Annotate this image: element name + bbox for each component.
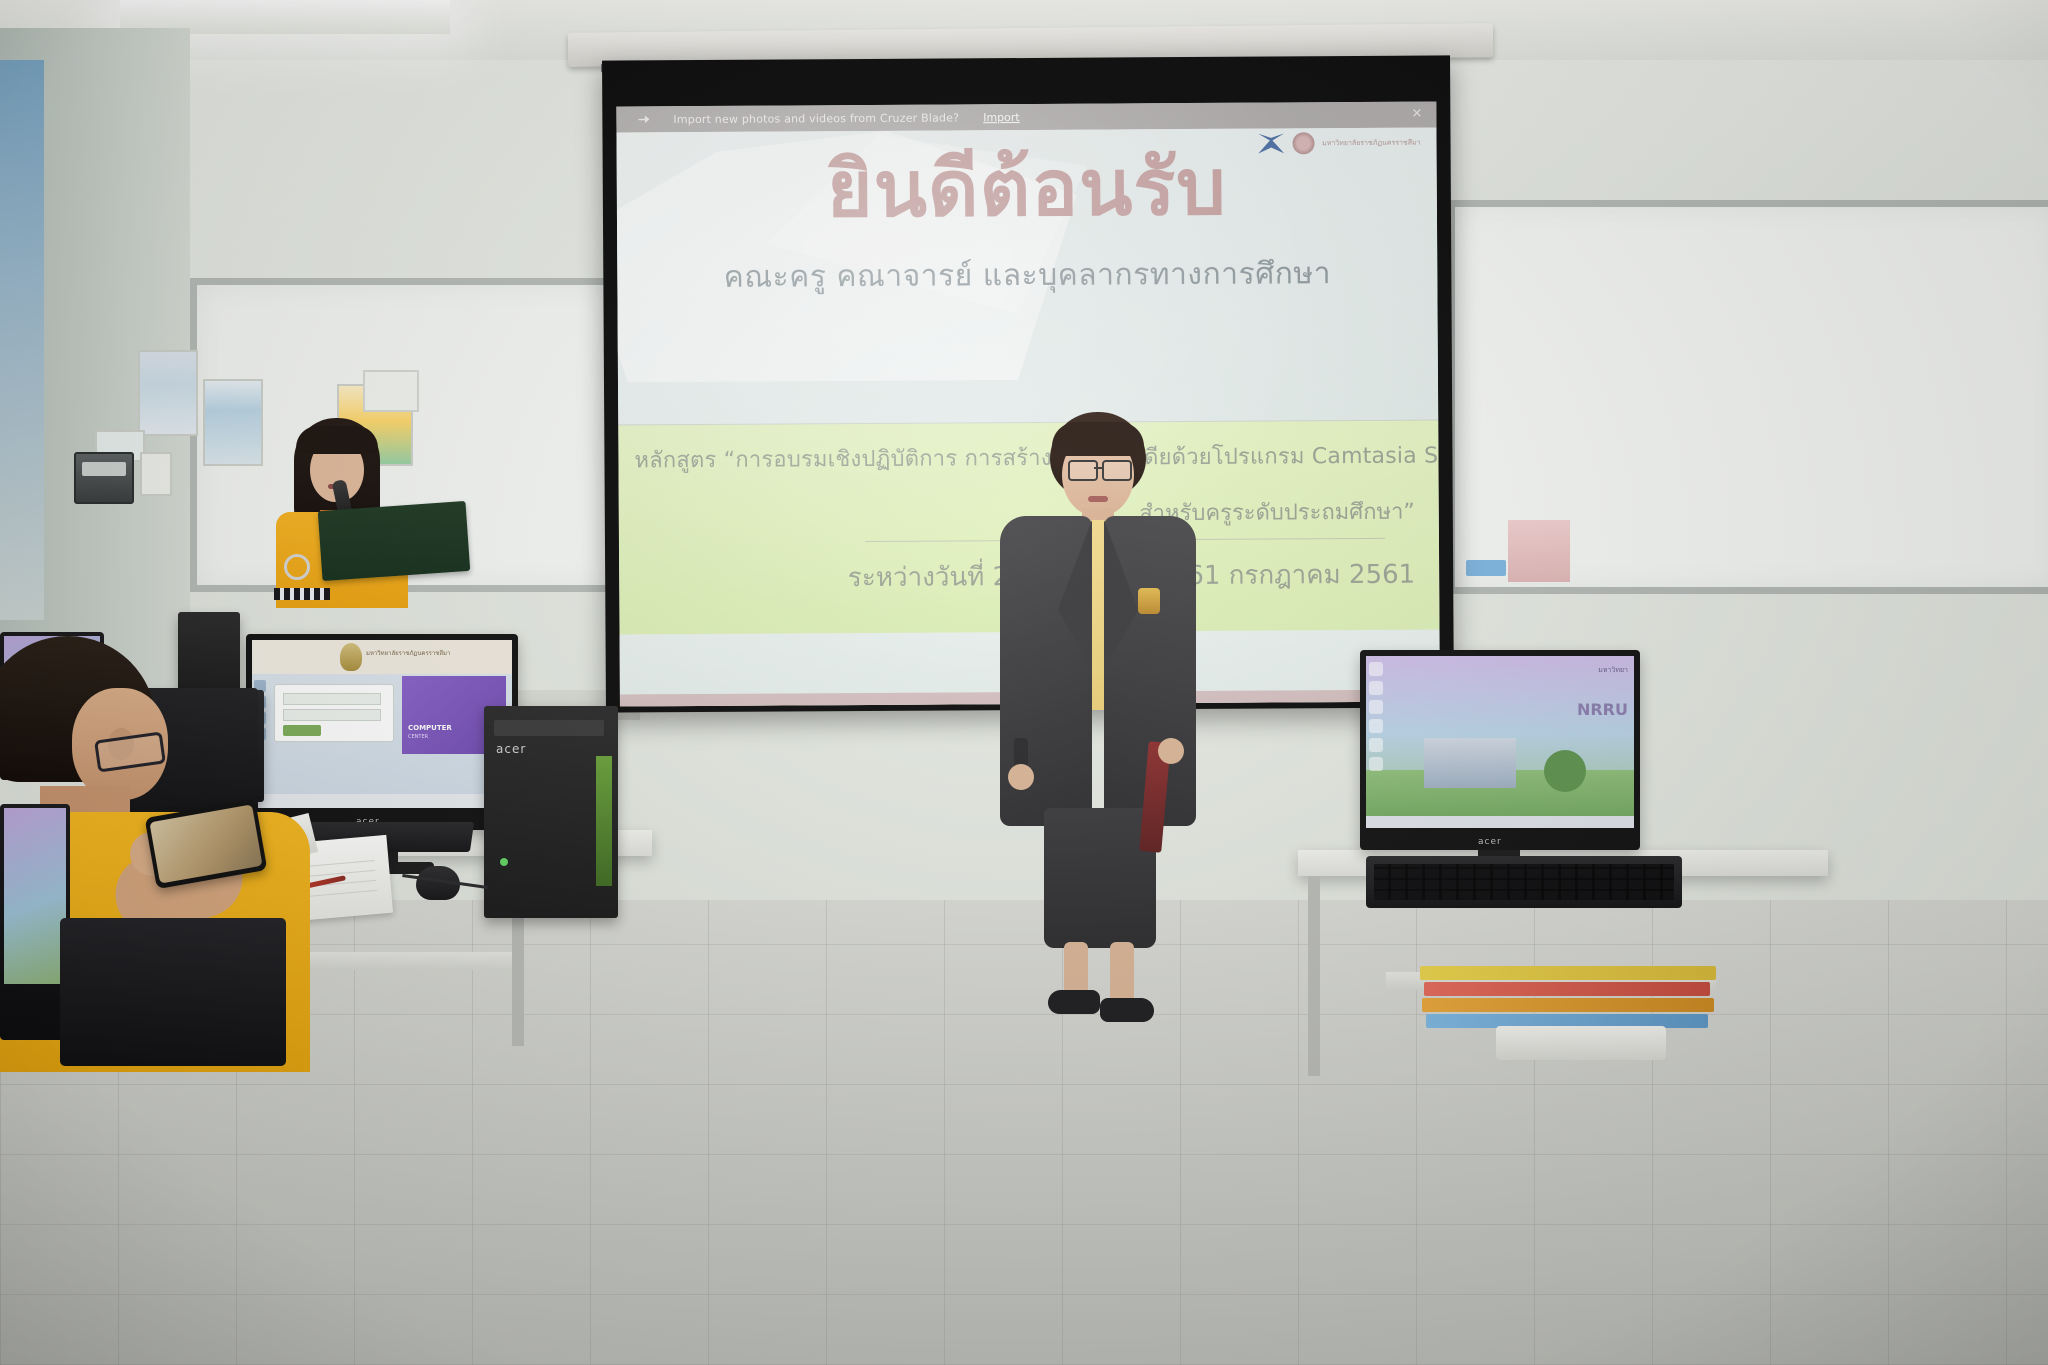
presenter-glasses-bridge: [1094, 467, 1102, 469]
wallpaper-tree: [1544, 750, 1586, 792]
presenter-glasses-left: [1068, 460, 1098, 481]
smartphone-screen: [149, 804, 262, 883]
keyboard-bottom-right[interactable]: [1496, 1026, 1666, 1060]
mc-person: [262, 418, 422, 598]
presenter-shoe-left: [1048, 990, 1100, 1014]
presenter-fringe: [1052, 422, 1144, 456]
desktop-icon[interactable]: [1369, 662, 1383, 676]
optical-drive-bay[interactable]: [494, 720, 604, 736]
presenter-hand-right: [1158, 738, 1184, 764]
presenter-mouth: [1088, 496, 1108, 502]
import-link[interactable]: Import: [983, 111, 1020, 124]
wall-poster-4: [363, 370, 419, 412]
presenter-shoe-right: [1100, 998, 1154, 1022]
desktop-tower-center[interactable]: acer: [484, 706, 618, 918]
monitor-foreground-2-screen: [4, 808, 66, 984]
book: [1420, 966, 1716, 980]
power-led-icon: [500, 858, 508, 866]
wallpaper-nrru-text: NRRU: [1577, 700, 1628, 719]
monitor-right-screen: มหาวิทยา NRRU: [1366, 656, 1634, 828]
book: [1422, 998, 1714, 1012]
wall-poster-6: [140, 452, 172, 496]
presenter-leg-right: [1110, 942, 1134, 1004]
mc-laptop: [318, 501, 471, 581]
login-header-text: มหาวิทยาลัยราชภัฏนครราชสีมา: [366, 648, 450, 658]
taskbar-right-monitor[interactable]: [1366, 816, 1634, 828]
presenter-badge: [1138, 588, 1160, 614]
book: [1424, 982, 1710, 996]
monitor-right[interactable]: มหาวิทยา NRRU acer: [1360, 650, 1640, 850]
wall-poster-2: [203, 379, 263, 466]
desktop-icon[interactable]: [1369, 719, 1383, 733]
computer-center-title: COMPUTER: [408, 724, 452, 732]
tower-brand-label: acer: [496, 742, 526, 756]
desktop-icon[interactable]: [1369, 738, 1383, 752]
monitor-right-brand: acer: [1478, 837, 1502, 847]
presenter-person: [992, 412, 1202, 1022]
wall-notice-right: [1508, 520, 1570, 582]
wallpaper-watermark-text: มหาวิทยา: [1598, 666, 1628, 675]
desktop-icon-group-right: [1369, 662, 1385, 771]
wall-control-panel[interactable]: [74, 452, 134, 504]
close-icon[interactable]: ✕: [1411, 107, 1422, 122]
mc-fringe: [296, 426, 378, 454]
wall-poster-1: [138, 350, 198, 436]
presenter-hand-left: [1008, 764, 1034, 790]
desktop-icon[interactable]: [1369, 681, 1383, 695]
tower-green-stripe: [596, 756, 612, 886]
window-blind: [0, 60, 44, 620]
monitor-foreground-3: [60, 918, 286, 1066]
import-notification-message: Import new photos and videos from Cruzer…: [673, 111, 959, 126]
keyboard-right[interactable]: [1366, 856, 1682, 908]
presenter-glasses-right: [1102, 460, 1132, 481]
university-logo-text: มหาวิทยาลัยราชภัฏนครราชสีมา: [1322, 138, 1420, 147]
presenter-skirt: [1044, 808, 1156, 948]
wall-sticker-blue: [1466, 560, 1506, 576]
computer-center-subtitle: CENTER: [408, 734, 428, 740]
slide-title: ยินดีต้อนรับ: [617, 147, 1437, 230]
import-arrow-icon: [638, 114, 649, 125]
mc-shirt-logo-icon: [284, 554, 310, 580]
desktop-icon[interactable]: [1369, 757, 1383, 771]
wallpaper-building: [1424, 738, 1516, 788]
university-crest-icon: [340, 643, 362, 671]
classroom-scene: Bnar Import new photos and videos from C…: [0, 0, 2048, 1365]
mc-sleeve-cuff: [274, 588, 330, 600]
desktop-icon[interactable]: [1369, 700, 1383, 714]
desk-right-leg: [1308, 876, 1320, 1076]
slide-subtitle: คณะครู คณาจารย์ และบุคลากรทางการศึกษา: [617, 249, 1437, 301]
